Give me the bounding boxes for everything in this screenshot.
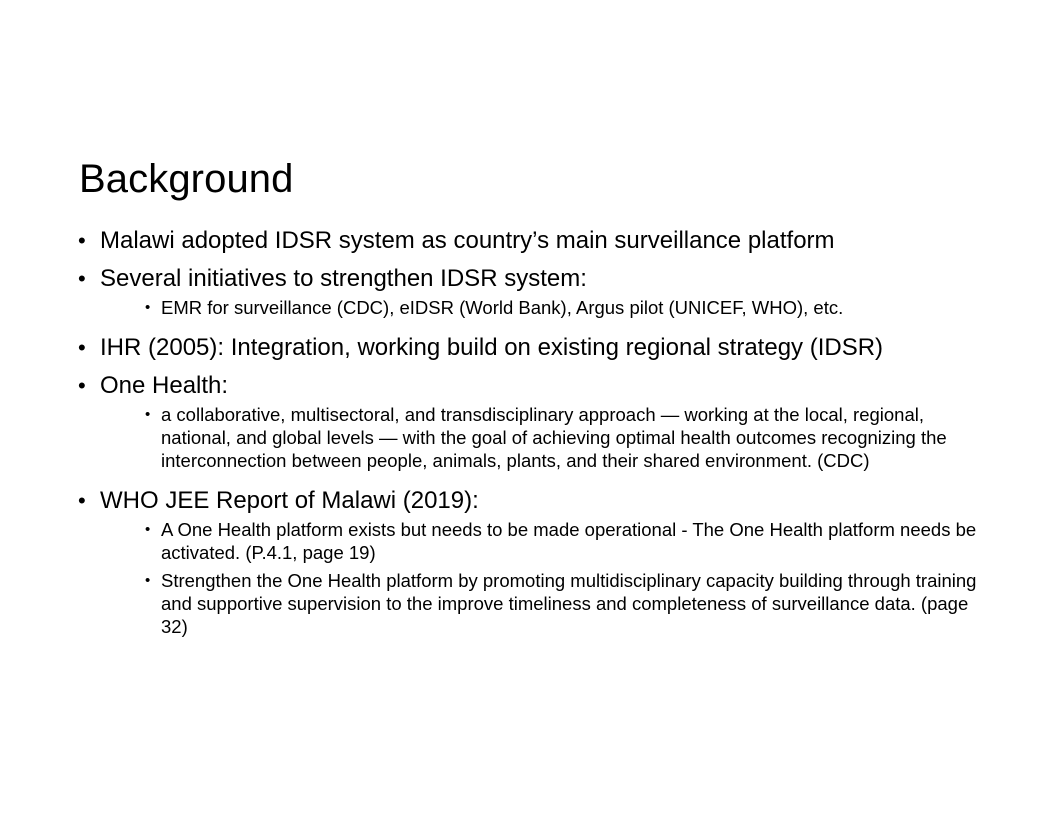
list-item: A One Health platform exists but needs t… bbox=[123, 518, 980, 564]
bullet-text: Malawi adopted IDSR system as country’s … bbox=[100, 226, 980, 255]
slide-body-content: Malawi adopted IDSR system as country’s … bbox=[70, 226, 980, 649]
bullet-text: A One Health platform exists but needs t… bbox=[161, 518, 980, 564]
bullet-list-level-2: A One Health platform exists but needs t… bbox=[100, 518, 980, 638]
list-item: Malawi adopted IDSR system as country’s … bbox=[70, 226, 980, 255]
bullet-text: Strengthen the One Health platform by pr… bbox=[161, 569, 980, 638]
list-item: Several initiatives to strengthen IDSR s… bbox=[70, 264, 980, 319]
bullet-text: WHO JEE Report of Malawi (2019): bbox=[100, 486, 980, 515]
bullet-list-level-2: EMR for surveillance (CDC), eIDSR (World… bbox=[100, 296, 980, 319]
list-item: WHO JEE Report of Malawi (2019): A One H… bbox=[70, 486, 980, 638]
bullet-text: a collaborative, multisectoral, and tran… bbox=[161, 403, 980, 472]
bullet-text: Several initiatives to strengthen IDSR s… bbox=[100, 264, 980, 293]
bullet-list-level-1: Malawi adopted IDSR system as country’s … bbox=[70, 226, 980, 638]
list-item: IHR (2005): Integration, working build o… bbox=[70, 333, 980, 362]
list-item: Strengthen the One Health platform by pr… bbox=[123, 569, 980, 638]
list-item: One Health: a collaborative, multisector… bbox=[70, 371, 980, 472]
bullet-list-level-2: a collaborative, multisectoral, and tran… bbox=[100, 403, 980, 472]
bullet-text: One Health: bbox=[100, 371, 980, 400]
page-title: Background bbox=[79, 155, 959, 203]
list-item: EMR for surveillance (CDC), eIDSR (World… bbox=[123, 296, 980, 319]
bullet-text: EMR for surveillance (CDC), eIDSR (World… bbox=[161, 296, 980, 319]
bullet-text: IHR (2005): Integration, working build o… bbox=[100, 333, 980, 362]
list-item: a collaborative, multisectoral, and tran… bbox=[123, 403, 980, 472]
presentation-slide: Background Malawi adopted IDSR system as… bbox=[0, 0, 1056, 816]
